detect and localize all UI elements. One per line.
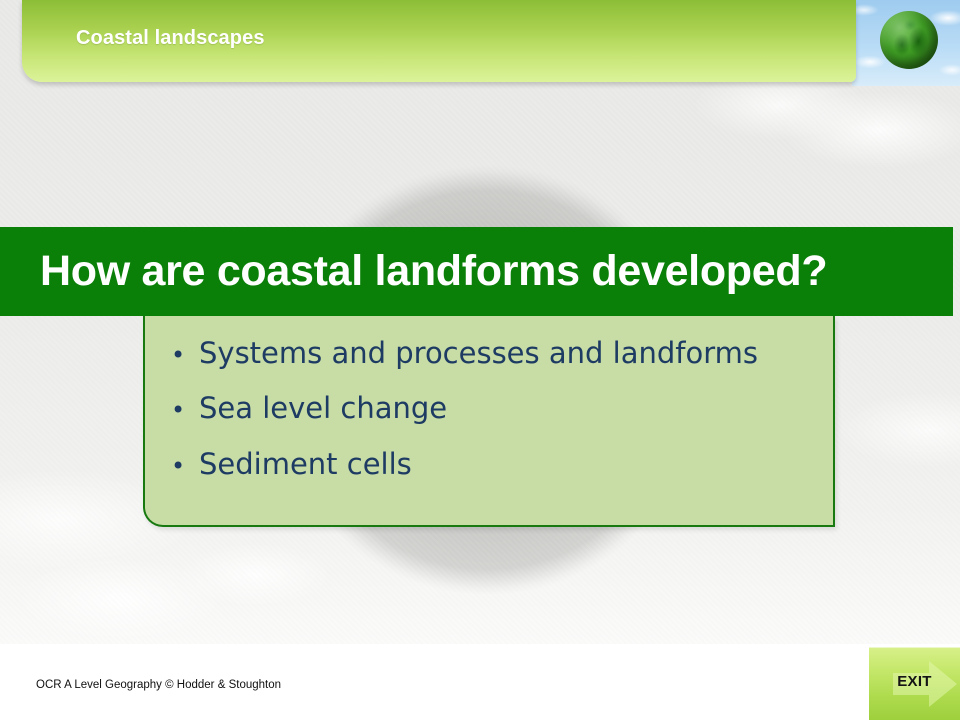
exit-button-label: EXIT: [869, 673, 960, 690]
bullet-list: • Systems and processes and landforms • …: [171, 338, 807, 479]
slide-canvas: Coastal landscapes How are coastal landf…: [0, 0, 960, 720]
bullet-dot-icon: •: [171, 454, 199, 478]
header-bar: Coastal landscapes: [22, 0, 856, 82]
content-box: • Systems and processes and landforms • …: [143, 316, 835, 527]
list-item-label: Sediment cells: [199, 449, 807, 479]
list-item-label: Sea level change: [199, 393, 807, 423]
footer-credit: OCR A Level Geography © Hodder & Stought…: [36, 679, 281, 691]
list-item: • Systems and processes and landforms: [171, 338, 807, 368]
bullet-dot-icon: •: [171, 343, 199, 367]
header-title: Coastal landscapes: [76, 27, 265, 50]
green-globe-icon: [880, 11, 938, 69]
sky-photo-panel: [852, 0, 960, 86]
title-banner: How are coastal landforms developed?: [0, 227, 953, 316]
bullet-dot-icon: •: [171, 398, 199, 422]
list-item: • Sediment cells: [171, 449, 807, 479]
list-item: • Sea level change: [171, 393, 807, 423]
exit-button[interactable]: EXIT: [869, 647, 960, 720]
list-item-label: Systems and processes and landforms: [199, 338, 807, 368]
page-title: How are coastal landforms developed?: [40, 247, 827, 296]
